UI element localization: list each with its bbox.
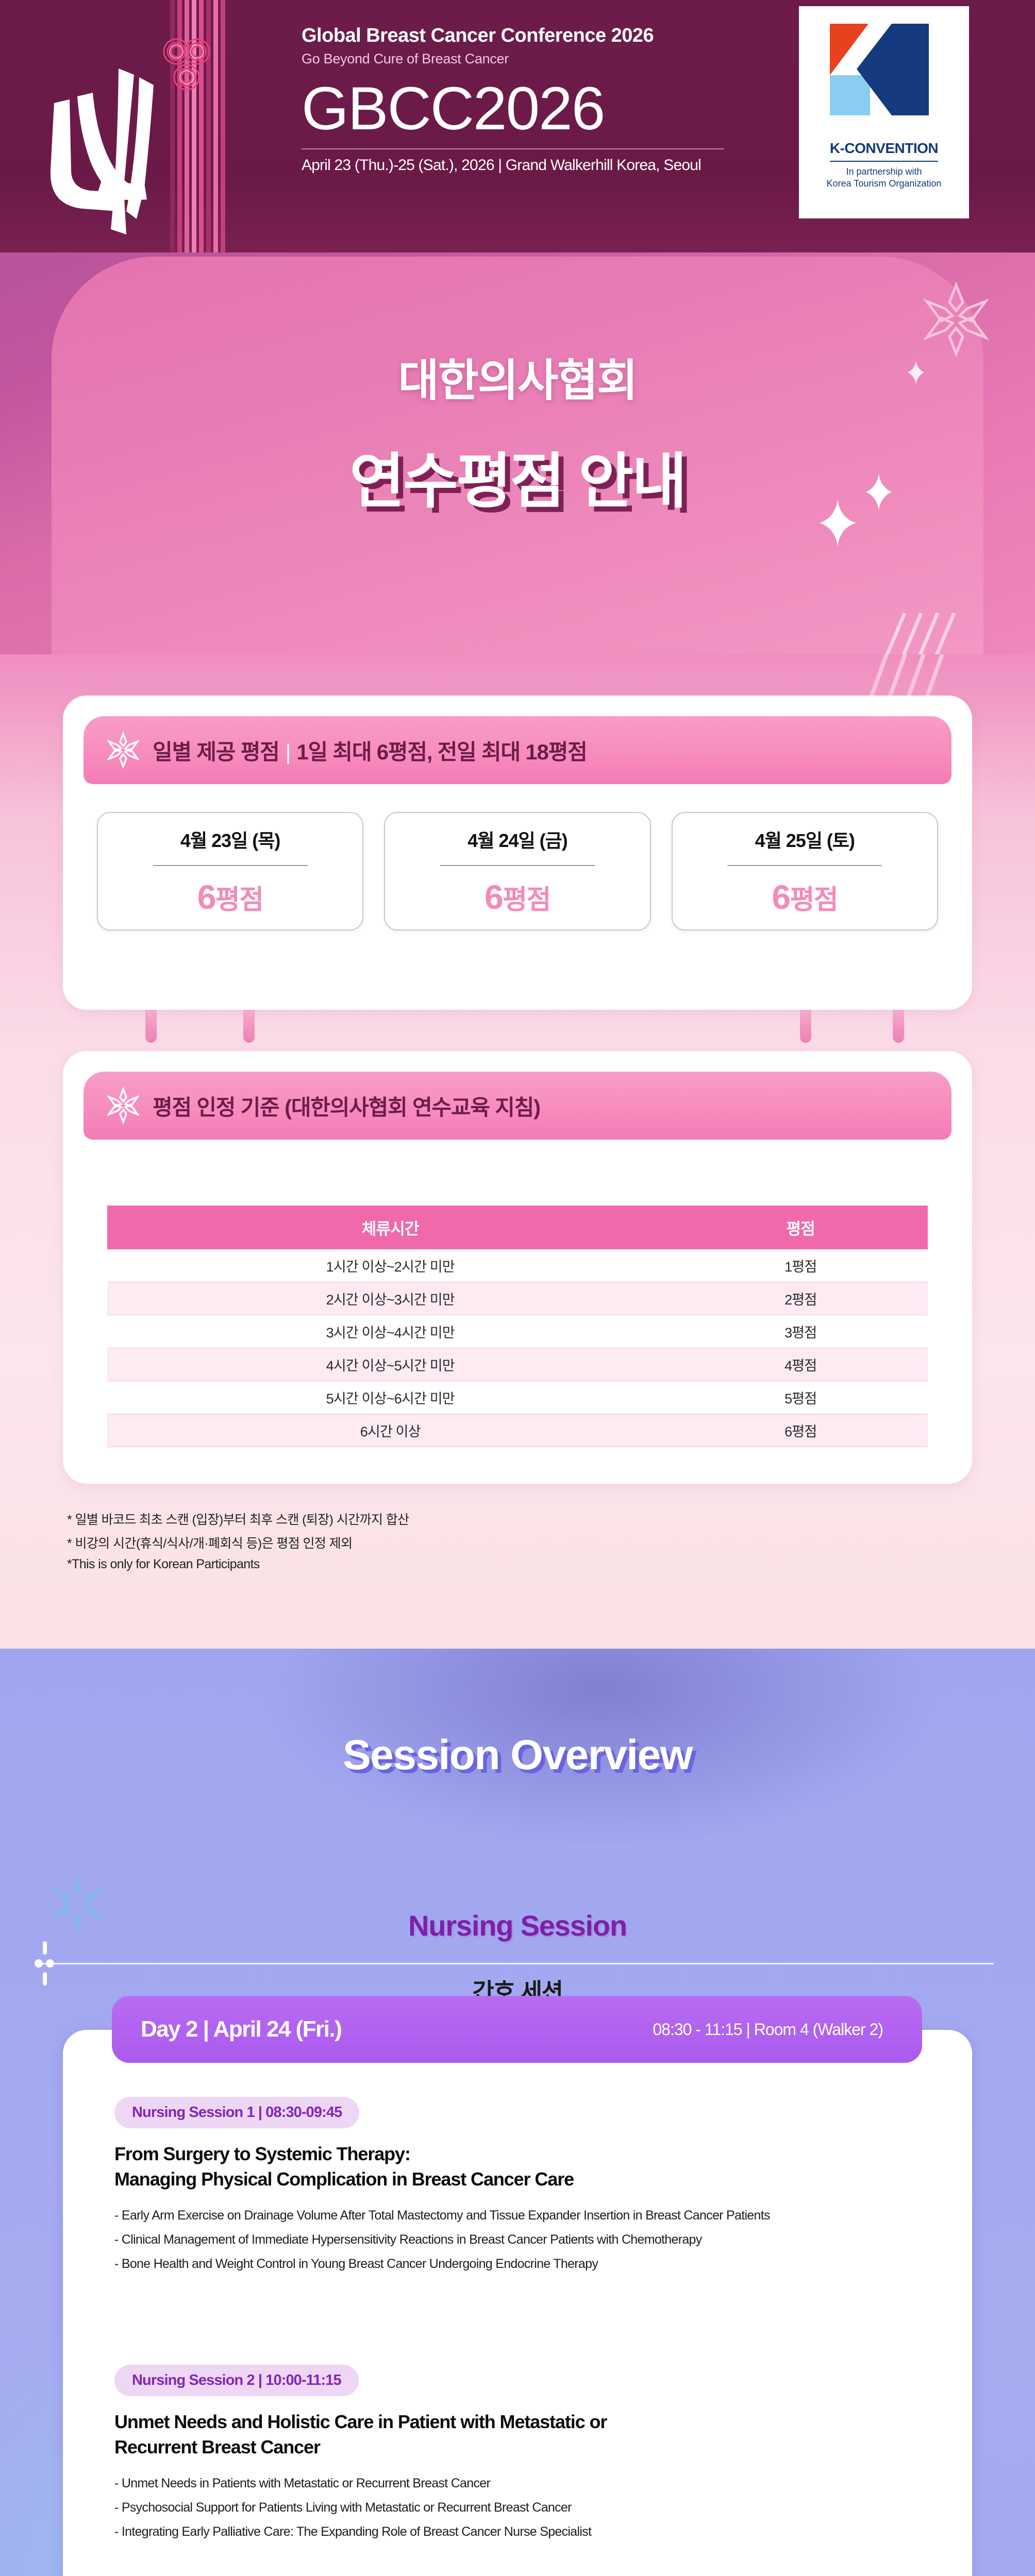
criteria-label: 평점 인정 기준 [153,1095,279,1120]
conference-date-venue: April 23 (Thu.)-25 (Sat.), 2026 | Grand … [302,157,750,174]
k-convention-divider [830,161,938,162]
nursing-session-1-bullets: - Early Arm Exercise on Drainage Volume … [114,2206,929,2274]
day-card-points-number: 6 [197,878,215,916]
points-info-section: 일별 제공 평점|1일 최대 6평점, 전일 최대 18평점 4월 23일 (목… [0,654,1035,1649]
korean-knot-icon [155,28,222,106]
cell-points: 4평점 [673,1348,928,1381]
day-card: 4월 23일 (목) 6평점 [97,812,363,930]
day-card-points-number: 6 [485,878,503,916]
footnote-1: * 일별 바코드 최초 스캔 (입장)부터 최후 스캔 (퇴장) 시간까지 합산 [67,1510,409,1528]
k-convention-sub2: Korea Tourism Organization [827,178,942,190]
conference-banner: Global Breast Cancer Conference 2026 Go … [0,0,1035,256]
table-row: 5시간 이상~6시간 미만 5평점 [107,1381,928,1414]
day-card-date: 4월 23일 (목) [180,826,280,853]
bullet-item: - Bone Health and Weight Control in Youn… [114,2254,929,2274]
footnotes: * 일별 바코드 최초 스캔 (입장)부터 최후 스캔 (퇴장) 시간까지 합산… [67,1510,409,1577]
gbcc-promo-page: Global Breast Cancer Conference 2026 Go … [0,0,1035,2576]
bullet-item: - Psychosocial Support for Patients Livi… [114,2498,929,2517]
day-card-date: 4월 25일 (토) [755,826,855,853]
day-points-cards: 4월 23일 (목) 6평점 4월 24일 (금) 6평점 4월 25일 (토)… [97,812,938,930]
session-overview-heading: Session Overview [0,1731,1035,1780]
table-row: 3시간 이상~4시간 미만 3평점 [107,1315,928,1348]
nursing-session-1: Nursing Session 1 | 08:30-09:45 From Sur… [114,2097,929,2278]
conference-title: Global Breast Cancer Conference 2026 [302,25,750,47]
cell-points: 2평점 [673,1282,928,1315]
asterisk-bullet-icon [107,732,139,769]
day-card-divider [153,865,308,866]
stripe-decoration-icon [866,608,959,659]
day-card-date: 4월 24일 (금) [468,826,567,853]
sparkle-icon [907,361,925,384]
daily-points-header: 일별 제공 평점|1일 최대 6평점, 전일 최대 18평점 [84,716,951,784]
cell-duration: 1시간 이상~2시간 미만 [107,1249,673,1282]
criteria-card: 평점 인정 기준 (대한의사협회 연수교육 지침) 체류시간 평점 1시간 이상… [63,1051,972,1484]
day-card-divider [727,865,882,866]
nursing-session-title-en: Nursing Session [408,1909,627,1942]
nursing-session-2-title: Unmet Needs and Holistic Care in Patient… [114,2410,929,2460]
banner-divider [302,148,724,149]
bullet-item: - Unmet Needs in Patients with Metastati… [114,2473,929,2493]
banner-text-block: Global Breast Cancer Conference 2026 Go … [302,25,750,174]
nursing-session-2-pill: Nursing Session 2 | 10:00-11:15 [114,2365,359,2396]
bullet-item: - Early Arm Exercise on Drainage Volume … [114,2206,929,2225]
bullet-item: - Integrating Early Palliative Care: The… [114,2522,929,2541]
nursing-session-1-title: From Surgery to Systemic Therapy: Managi… [114,2142,929,2192]
criteria-table: 체류시간 평점 1시간 이상~2시간 미만 1평점 2시간 이상~3시간 미만 … [107,1206,928,1447]
day-card: 4월 24일 (금) 6평점 [384,812,650,930]
nursing-session-2-bullets: - Unmet Needs in Patients with Metastati… [114,2473,929,2541]
acronym-year: 2026 [473,75,605,143]
table-row: 6시간 이상 6평점 [107,1414,928,1447]
daily-points-card: 일별 제공 평점|1일 최대 6평점, 전일 최대 18평점 4월 23일 (목… [63,696,972,1010]
day-card: 4월 25일 (토) 6평점 [672,812,938,930]
k-convention-sub1: In partnership with [827,166,942,178]
day-card-points-number: 6 [772,878,790,916]
cell-duration: 5시간 이상~6시간 미만 [107,1381,673,1414]
hero-section: 대한의사협회 연수평점 안내 [0,252,1035,659]
header-separator: | [279,740,297,764]
cell-duration: 6시간 이상 [107,1414,673,1447]
daily-points-label: 일별 제공 평점 [153,740,279,764]
criteria-col-duration: 체류시간 [107,1206,673,1249]
table-row: 4시간 이상~5시간 미만 4평점 [107,1348,928,1381]
clip-decorations [63,1010,972,1051]
footnote-3: *This is only for Korean Participants [67,1557,409,1572]
k-convention-mark-icon [820,18,948,136]
day-card-points-unit: 평점 [790,885,838,915]
cell-duration: 2시간 이상~3시간 미만 [107,1282,673,1315]
table-row: 1시간 이상~2시간 미만 1평점 [107,1249,928,1282]
criteria-header: 평점 인정 기준 (대한의사협회 연수교육 지침) [84,1072,951,1140]
cell-points: 1평점 [673,1249,928,1282]
nursing-day-bar: Day 2 | April 24 (Fri.) 08:30 - 11:15 | … [112,1996,922,2063]
nursing-session-1-pill: Nursing Session 1 | 08:30-09:45 [114,2097,359,2128]
k-convention-logo: K-CONVENTION In partnership with Korea T… [799,6,969,218]
nursing-session-card: Day 2 | April 24 (Fri.) 08:30 - 11:15 | … [63,2030,972,2576]
criteria-col-points: 평점 [673,1206,928,1249]
asterisk-bullet-icon [107,1087,139,1124]
day-card-points-unit: 평점 [503,885,550,915]
nursing-session-2: Nursing Session 2 | 10:00-11:15 Unmet Ne… [114,2365,929,2546]
sparkle-icon [820,500,856,546]
sparkle-icon [866,474,892,510]
bullet-item: - Clinical Management of Immediate Hyper… [114,2230,929,2249]
criteria-table-header-row: 체류시간 평점 [107,1206,928,1249]
day-card-divider [440,865,595,866]
nursing-day-label: Day 2 | April 24 (Fri.) [141,2016,341,2042]
conference-acronym: GBCC2026 [302,78,750,139]
section-rule [41,1963,994,1964]
cell-duration: 4시간 이상~5시간 미만 [107,1348,673,1381]
daily-points-value: 1일 최대 6평점, 전일 최대 18평점 [296,740,587,764]
cell-duration: 3시간 이상~4시간 미만 [107,1315,673,1348]
conference-tagline: Go Beyond Cure of Breast Cancer [302,51,750,67]
footnote-2: * 비강의 시간(휴식/식사/개·폐회식 등)은 평점 인정 제외 [67,1533,409,1552]
cell-points: 6평점 [673,1414,928,1447]
criteria-paren: (대한의사협회 연수교육 지침) [285,1095,540,1120]
nursing-day-meta: 08:30 - 11:15 | Room 4 (Walker 2) [653,2020,893,2039]
cell-points: 3평점 [673,1315,928,1348]
k-convention-name: K-CONVENTION [830,140,938,157]
day-card-points-unit: 평점 [215,885,263,915]
cell-points: 5평점 [673,1381,928,1414]
table-row: 2시간 이상~3시간 미만 2평점 [107,1282,928,1315]
hero-title-line1: 대한의사협회 [0,344,1035,409]
session-overview-section: Session Overview Nursing Session 간호 세션 [0,1649,1035,2576]
acronym-text: GBCC [302,75,473,143]
